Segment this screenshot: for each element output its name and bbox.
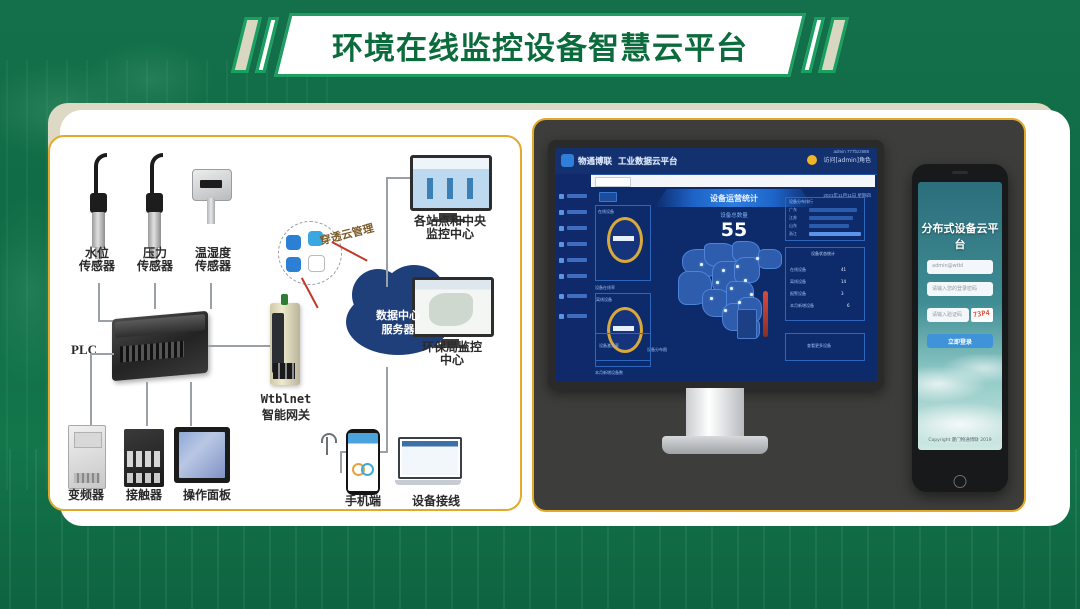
username-field[interactable]: admin@wtbl xyxy=(927,260,993,274)
rank-name-3: 浙江 xyxy=(789,231,797,237)
china-map xyxy=(672,235,796,347)
connector-plc-gateway xyxy=(208,345,270,347)
dashboard-user-label[interactable]: 访问[admin]角色 xyxy=(824,155,871,164)
sidebar-label-2 xyxy=(567,226,587,230)
mobile-phone-device: 分布式设备云平台 admin@wtbl 请输入您的登录密码 请输入验证码 73P… xyxy=(912,164,1008,492)
monitor-neck xyxy=(686,388,744,440)
rank-bar-2 xyxy=(809,224,849,228)
sensor-label-water: 水位传感器 xyxy=(66,247,128,274)
service-icon-1 xyxy=(286,235,301,250)
client-label-mobile: 手机端 xyxy=(328,495,398,508)
info-val-2: 3 xyxy=(841,291,844,296)
rank-name-1: 江苏 xyxy=(789,215,797,221)
topology-diagram: 水位传感器 压力传感器 温湿度传感器 PLC xyxy=(50,137,520,509)
captcha-text: 73P4 xyxy=(973,309,991,319)
device-label-inverter: 变频器 xyxy=(58,489,114,502)
connector-water-plc xyxy=(98,283,100,321)
sidebar-label-1 xyxy=(567,210,587,214)
sidebar-item-6[interactable] xyxy=(559,292,589,301)
desktop-monitor: 物通博联 工业数据云平台 admin 777bzz888 访问[admin]角色 xyxy=(548,140,884,390)
sidebar-icon-6 xyxy=(559,294,564,299)
phone-earpiece xyxy=(952,171,968,174)
sidebar-item-0[interactable] xyxy=(559,192,589,201)
dashboard-breadcrumb-bar xyxy=(591,175,875,187)
mobile-client-icon xyxy=(346,429,380,495)
sidebar-item-3[interactable] xyxy=(559,240,589,249)
dashboard-filter-chip[interactable] xyxy=(599,192,617,202)
contactor-device-icon xyxy=(124,429,164,487)
info-title: 设备状态统计 xyxy=(811,251,835,257)
captcha-placeholder: 请输入验证码 xyxy=(932,311,962,318)
rank-bar-0 xyxy=(809,208,857,212)
left-note-1: 设备激活率 xyxy=(599,343,619,349)
captcha-field[interactable]: 请输入验证码 xyxy=(927,308,969,322)
gauge-label-1: 离线设备 xyxy=(596,297,612,303)
connector-plc-inverter xyxy=(90,353,92,425)
rank-name-0: 广东 xyxy=(789,207,797,213)
connector-cloud-clients-v xyxy=(386,367,388,451)
topology-diagram-card: 水位传感器 压力传感器 温湿度传感器 PLC xyxy=(48,135,522,511)
connector-pressure-plc xyxy=(154,283,156,309)
operator-panel-icon xyxy=(174,427,230,483)
left-note-0: 设备在线率 xyxy=(595,285,615,291)
phone-copyright: Copyright 厦门物通博联 2019 xyxy=(918,437,1002,443)
left-note-2: 本月新增设备数 xyxy=(595,370,623,376)
info-key-1: 离线设备 xyxy=(790,279,806,285)
dashboard-main: 设备运营统计 2021年11月11日 星期四 设备总数量 55 在线设备 设备在… xyxy=(591,187,877,382)
service-icon-4 xyxy=(308,255,325,272)
sidebar-item-2[interactable] xyxy=(559,224,589,233)
info-key-3: 本月新增设备 xyxy=(790,303,814,309)
gateway-label-line2: 智能网关 xyxy=(246,409,326,422)
monitor-label-station: 各站点和中央监控中心 xyxy=(402,215,498,242)
map-callout-card xyxy=(737,309,757,339)
info-val-0: 41 xyxy=(841,267,846,272)
connector-plc-left xyxy=(90,353,114,355)
product-showcase-card: 物通博联 工业数据云平台 admin 777bzz888 访问[admin]角色 xyxy=(532,118,1026,512)
thermometer-indicator xyxy=(763,291,768,337)
laptop-client-icon xyxy=(398,437,464,485)
dashboard-sidebar xyxy=(555,174,591,382)
wireless-antenna-icon xyxy=(326,437,328,455)
sensor-label-pressure: 压力传感器 xyxy=(124,247,186,274)
captcha-image[interactable]: 73P4 xyxy=(971,308,993,322)
info-key-2: 报警设备 xyxy=(790,291,806,297)
sidebar-icon-4 xyxy=(559,258,564,263)
connector-clients-drop xyxy=(340,451,342,473)
sensor-label-temp-humidity: 温湿度传感器 xyxy=(180,247,246,274)
station-monitor-icon xyxy=(410,155,486,211)
phone-app-title: 分布式设备云平台 xyxy=(918,220,1002,252)
title-banner: 环境在线监控设备智慧云平台 xyxy=(236,9,844,83)
password-placeholder: 请输入您的登录密码 xyxy=(932,285,977,292)
slide-canvas: 环境在线监控设备智慧云平台 水位传感器 压力传感器 温湿度传感器 xyxy=(0,0,1080,609)
password-field[interactable]: 请输入您的登录密码 xyxy=(927,282,993,296)
client-label-wiring: 设备接线 xyxy=(398,495,474,508)
dashboard-user-avatar[interactable] xyxy=(807,155,817,165)
monitor-base xyxy=(662,436,768,454)
sidebar-label-7 xyxy=(567,314,587,318)
info-val-3: 6 xyxy=(847,303,850,308)
dashboard-topbar: 物通博联 工业数据云平台 admin 777bzz888 访问[admin]角色 xyxy=(555,148,877,175)
dashboard-logo-icon xyxy=(561,154,574,167)
sidebar-icon-5 xyxy=(559,274,564,279)
connector-cloud-monitor1-h xyxy=(386,177,410,179)
login-button[interactable]: 立即登录 xyxy=(927,334,993,348)
phone-home-button[interactable] xyxy=(954,475,967,488)
username-placeholder: admin@wtbl xyxy=(932,263,963,269)
inverter-device-icon xyxy=(68,425,106,489)
sidebar-label-3 xyxy=(567,242,587,246)
dashboard-topbar-meta: admin 777bzz888 xyxy=(833,149,869,154)
connector-plc-panel xyxy=(190,382,192,426)
device-label-contactor: 接触器 xyxy=(116,489,172,502)
page-title: 环境在线监控设备智慧云平台 xyxy=(282,13,798,77)
connector-temp-plc xyxy=(210,283,212,309)
phone-login-screen: 分布式设备云平台 admin@wtbl 请输入您的登录密码 请输入验证码 73P… xyxy=(918,182,1002,450)
sidebar-item-1[interactable] xyxy=(559,208,589,217)
sidebar-icon-7 xyxy=(559,314,564,319)
plc-device-icon xyxy=(112,311,208,381)
sidebar-icon-2 xyxy=(559,226,564,231)
connector-plc-contactor xyxy=(146,382,148,426)
dashboard-stat-label: 设备总数量 xyxy=(720,211,748,219)
dashboard-brand: 物通博联 工业数据云平台 xyxy=(578,155,677,167)
gauge-online-devices xyxy=(607,217,643,263)
sidebar-icon-3 xyxy=(559,242,564,247)
phone-wave-graphic xyxy=(918,354,1002,450)
sidebar-label-0 xyxy=(567,194,587,198)
sidebar-label-6 xyxy=(567,294,587,298)
service-icon-3 xyxy=(286,257,301,272)
gauge-label-0: 在线设备 xyxy=(598,209,614,215)
temp-humidity-sensor-icon xyxy=(192,169,230,201)
breadcrumb-select[interactable] xyxy=(595,177,631,187)
info-key-0: 在线设备 xyxy=(790,267,806,273)
sidebar-icon-0 xyxy=(559,194,564,199)
rank-name-2: 山东 xyxy=(789,223,797,229)
cloud-label: 数据中心服务器 xyxy=(346,309,450,337)
wtblnet-gateway-icon xyxy=(270,303,300,385)
sidebar-label-4 xyxy=(567,258,587,262)
sidebar-item-7[interactable] xyxy=(559,312,589,321)
monitor-label-epb: 环保局监控中心 xyxy=(404,341,500,368)
sidebar-item-5[interactable] xyxy=(559,272,589,281)
plc-label: PLC xyxy=(60,343,108,358)
device-label-operator-panel: 操作面板 xyxy=(174,489,240,502)
sidebar-label-5 xyxy=(567,274,587,278)
gateway-label-line1: Wtblnet xyxy=(246,393,326,406)
rank-bar-3 xyxy=(809,232,861,236)
cloud-dashboard-screen: 物通博联 工业数据云平台 admin 777bzz888 访问[admin]角色 xyxy=(555,148,877,382)
rank-title: 设备分布排行 xyxy=(789,199,813,205)
rank-bar-1 xyxy=(809,216,853,220)
connector-cloud-monitor1-v xyxy=(386,177,388,287)
sidebar-item-4[interactable] xyxy=(559,256,589,265)
footer-button[interactable]: 查看更多设备 xyxy=(807,343,831,349)
sidebar-icon-1 xyxy=(559,210,564,215)
info-val-1: 14 xyxy=(841,279,846,284)
